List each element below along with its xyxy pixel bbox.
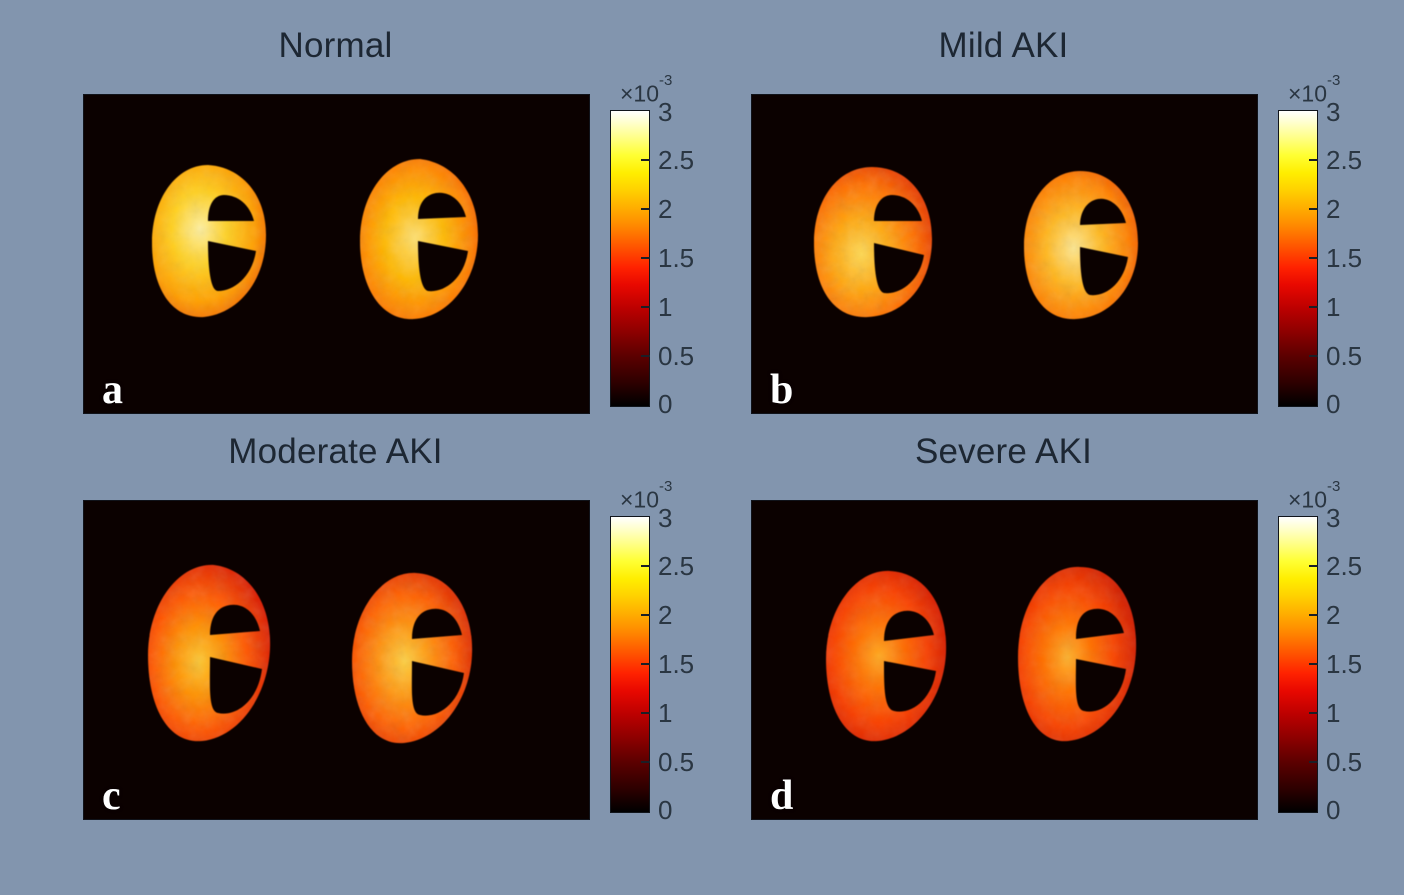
panel-c-left-kidney xyxy=(140,561,280,745)
colorbar-tick xyxy=(1309,614,1318,616)
colorbar-tick-label: 1.5 xyxy=(1326,651,1362,677)
panel-b-title: Mild AKI xyxy=(751,28,1256,63)
colorbar-tick xyxy=(1309,159,1318,161)
colorbar-tick xyxy=(1309,355,1318,357)
panel-c-right-kidney xyxy=(346,569,482,747)
colorbar-tick-label: 0.5 xyxy=(658,343,694,369)
panel-a-letter: a xyxy=(102,369,123,411)
colorbar-tick-label: 0.5 xyxy=(1326,343,1362,369)
colorbar-tick xyxy=(1309,712,1318,714)
colorbar-tick-label: 2.5 xyxy=(1326,147,1362,173)
panel-a-title: Normal xyxy=(83,28,588,63)
kidney-shape-svg xyxy=(140,561,280,745)
colorbar-tick-label: 2.5 xyxy=(658,147,694,173)
colorbar-tick-label: 1 xyxy=(658,294,672,320)
colorbar-tick-label: 2 xyxy=(1326,196,1340,222)
kidney-shape-svg xyxy=(1020,167,1144,323)
kidney-shape-svg xyxy=(354,155,484,323)
panel-b-right-kidney xyxy=(1020,167,1144,323)
kidney-shape-svg xyxy=(808,163,940,321)
colorbar-tick-label: 3 xyxy=(658,99,672,125)
colorbar-tick xyxy=(641,208,650,210)
colorbar-tick-label: 3 xyxy=(658,505,672,531)
panel-a-image: a xyxy=(83,94,590,414)
panel-d-image: d xyxy=(751,500,1258,820)
colorbar-tick xyxy=(641,257,650,259)
colorbar-tick-label: 1.5 xyxy=(658,651,694,677)
colorbar-tick-label: 0 xyxy=(1326,797,1340,823)
colorbar-tick-label: 0 xyxy=(1326,391,1340,417)
colorbar-tick-label: 2 xyxy=(658,196,672,222)
kidney-shape-svg xyxy=(1012,563,1146,745)
colorbar-tick xyxy=(1309,257,1318,259)
colorbar-tick-label: 2 xyxy=(1326,602,1340,628)
panel-b-letter: b xyxy=(770,369,793,411)
panel-c-letter: c xyxy=(102,775,121,817)
colorbar-tick-label: 0 xyxy=(658,797,672,823)
colorbar-tick xyxy=(641,663,650,665)
colorbar-tick-label: 2.5 xyxy=(658,553,694,579)
colorbar-tick-label: 1 xyxy=(1326,700,1340,726)
kidney-shape-svg xyxy=(346,569,482,747)
colorbar-tick xyxy=(1309,761,1318,763)
colorbar-tick-label: 3 xyxy=(1326,99,1340,125)
colorbar-tick-label: 2 xyxy=(658,602,672,628)
panel-c-image: c xyxy=(83,500,590,820)
colorbar-tick-label: 0.5 xyxy=(1326,749,1362,775)
colorbar-tick-label: 1 xyxy=(1326,294,1340,320)
colorbar-tick xyxy=(641,355,650,357)
colorbar-tick-label: 3 xyxy=(1326,505,1340,531)
kidney-shape-svg xyxy=(146,161,274,321)
panel-d-letter: d xyxy=(770,775,793,817)
panel-d-title: Severe AKI xyxy=(751,434,1256,469)
colorbar-tick xyxy=(641,761,650,763)
panel-b-image: b xyxy=(751,94,1258,414)
colorbar-tick xyxy=(1309,208,1318,210)
panel-a-left-kidney xyxy=(146,161,274,321)
colorbar-tick-label: 2.5 xyxy=(1326,553,1362,579)
colorbar-tick-label: 1.5 xyxy=(658,245,694,271)
colorbar-tick xyxy=(1309,663,1318,665)
colorbar-tick xyxy=(641,614,650,616)
colorbar-tick-label: 1.5 xyxy=(1326,245,1362,271)
colorbar-tick xyxy=(1309,565,1318,567)
colorbar-tick xyxy=(641,306,650,308)
panel-d-right-kidney xyxy=(1012,563,1146,745)
panel-c-title: Moderate AKI xyxy=(83,434,588,469)
colorbar-tick xyxy=(641,159,650,161)
colorbar-tick xyxy=(641,712,650,714)
colorbar-tick-label: 0.5 xyxy=(658,749,694,775)
colorbar-tick-label: 1 xyxy=(658,700,672,726)
colorbar-tick xyxy=(641,565,650,567)
colorbar-tick-label: 0 xyxy=(658,391,672,417)
panel-d-left-kidney xyxy=(820,567,956,745)
colorbar-tick xyxy=(1309,306,1318,308)
adc-map-figure: Normal xyxy=(0,0,1404,895)
panel-a-right-kidney xyxy=(354,155,484,323)
kidney-shape-svg xyxy=(820,567,956,745)
panel-b-left-kidney xyxy=(808,163,940,321)
